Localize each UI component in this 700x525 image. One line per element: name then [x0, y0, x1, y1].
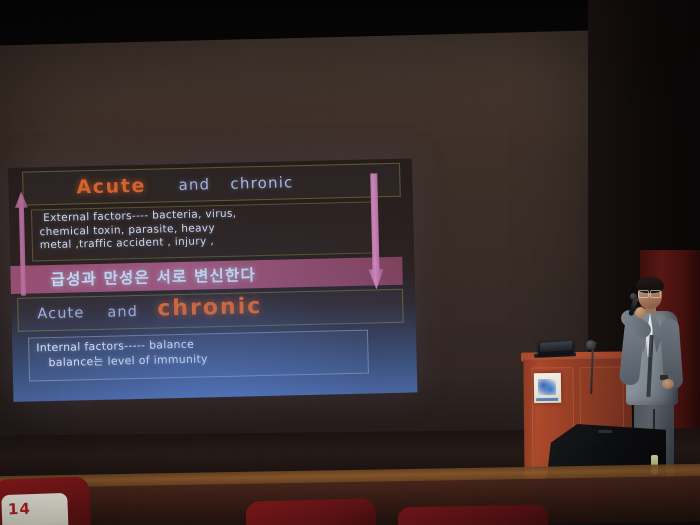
seat-number-label: 14	[8, 500, 31, 519]
podium-sign	[534, 373, 561, 403]
glasses-icon	[638, 290, 661, 296]
laptop-screen	[540, 341, 572, 352]
arrow-up-icon	[15, 192, 30, 296]
slide-title1-chronic: chronic	[230, 173, 294, 192]
podium-sign-logo	[538, 379, 556, 395]
presentation-photo-scene: Acute and chronic External factors---- b…	[0, 0, 700, 525]
speaker-handle	[598, 430, 612, 433]
slide-body-2: Internal factors----- balance balance는 l…	[36, 337, 208, 370]
slide-body-1: External factors---- bacteria, virus, ch…	[39, 208, 237, 253]
slide-title1-acute: Acute	[76, 175, 146, 199]
microphone-head-icon	[630, 293, 637, 300]
audience-seat-right	[398, 505, 549, 525]
projected-slide: Acute and chronic External factors---- b…	[8, 158, 417, 401]
slide-title1-and: and	[178, 175, 210, 194]
arrow-down-icon	[366, 173, 384, 289]
laptop	[538, 339, 575, 356]
audience-seat-middle	[246, 498, 377, 525]
presenter-hand-left	[635, 307, 646, 318]
slide-title2-and: and	[107, 304, 138, 321]
slide-title2-chronic: chronic	[157, 294, 262, 321]
podium-sign-bar	[536, 398, 558, 401]
presenter-hand-right	[662, 379, 674, 389]
slide-title2-acute: Acute	[37, 305, 84, 322]
mic-stand-head-icon	[586, 340, 596, 350]
